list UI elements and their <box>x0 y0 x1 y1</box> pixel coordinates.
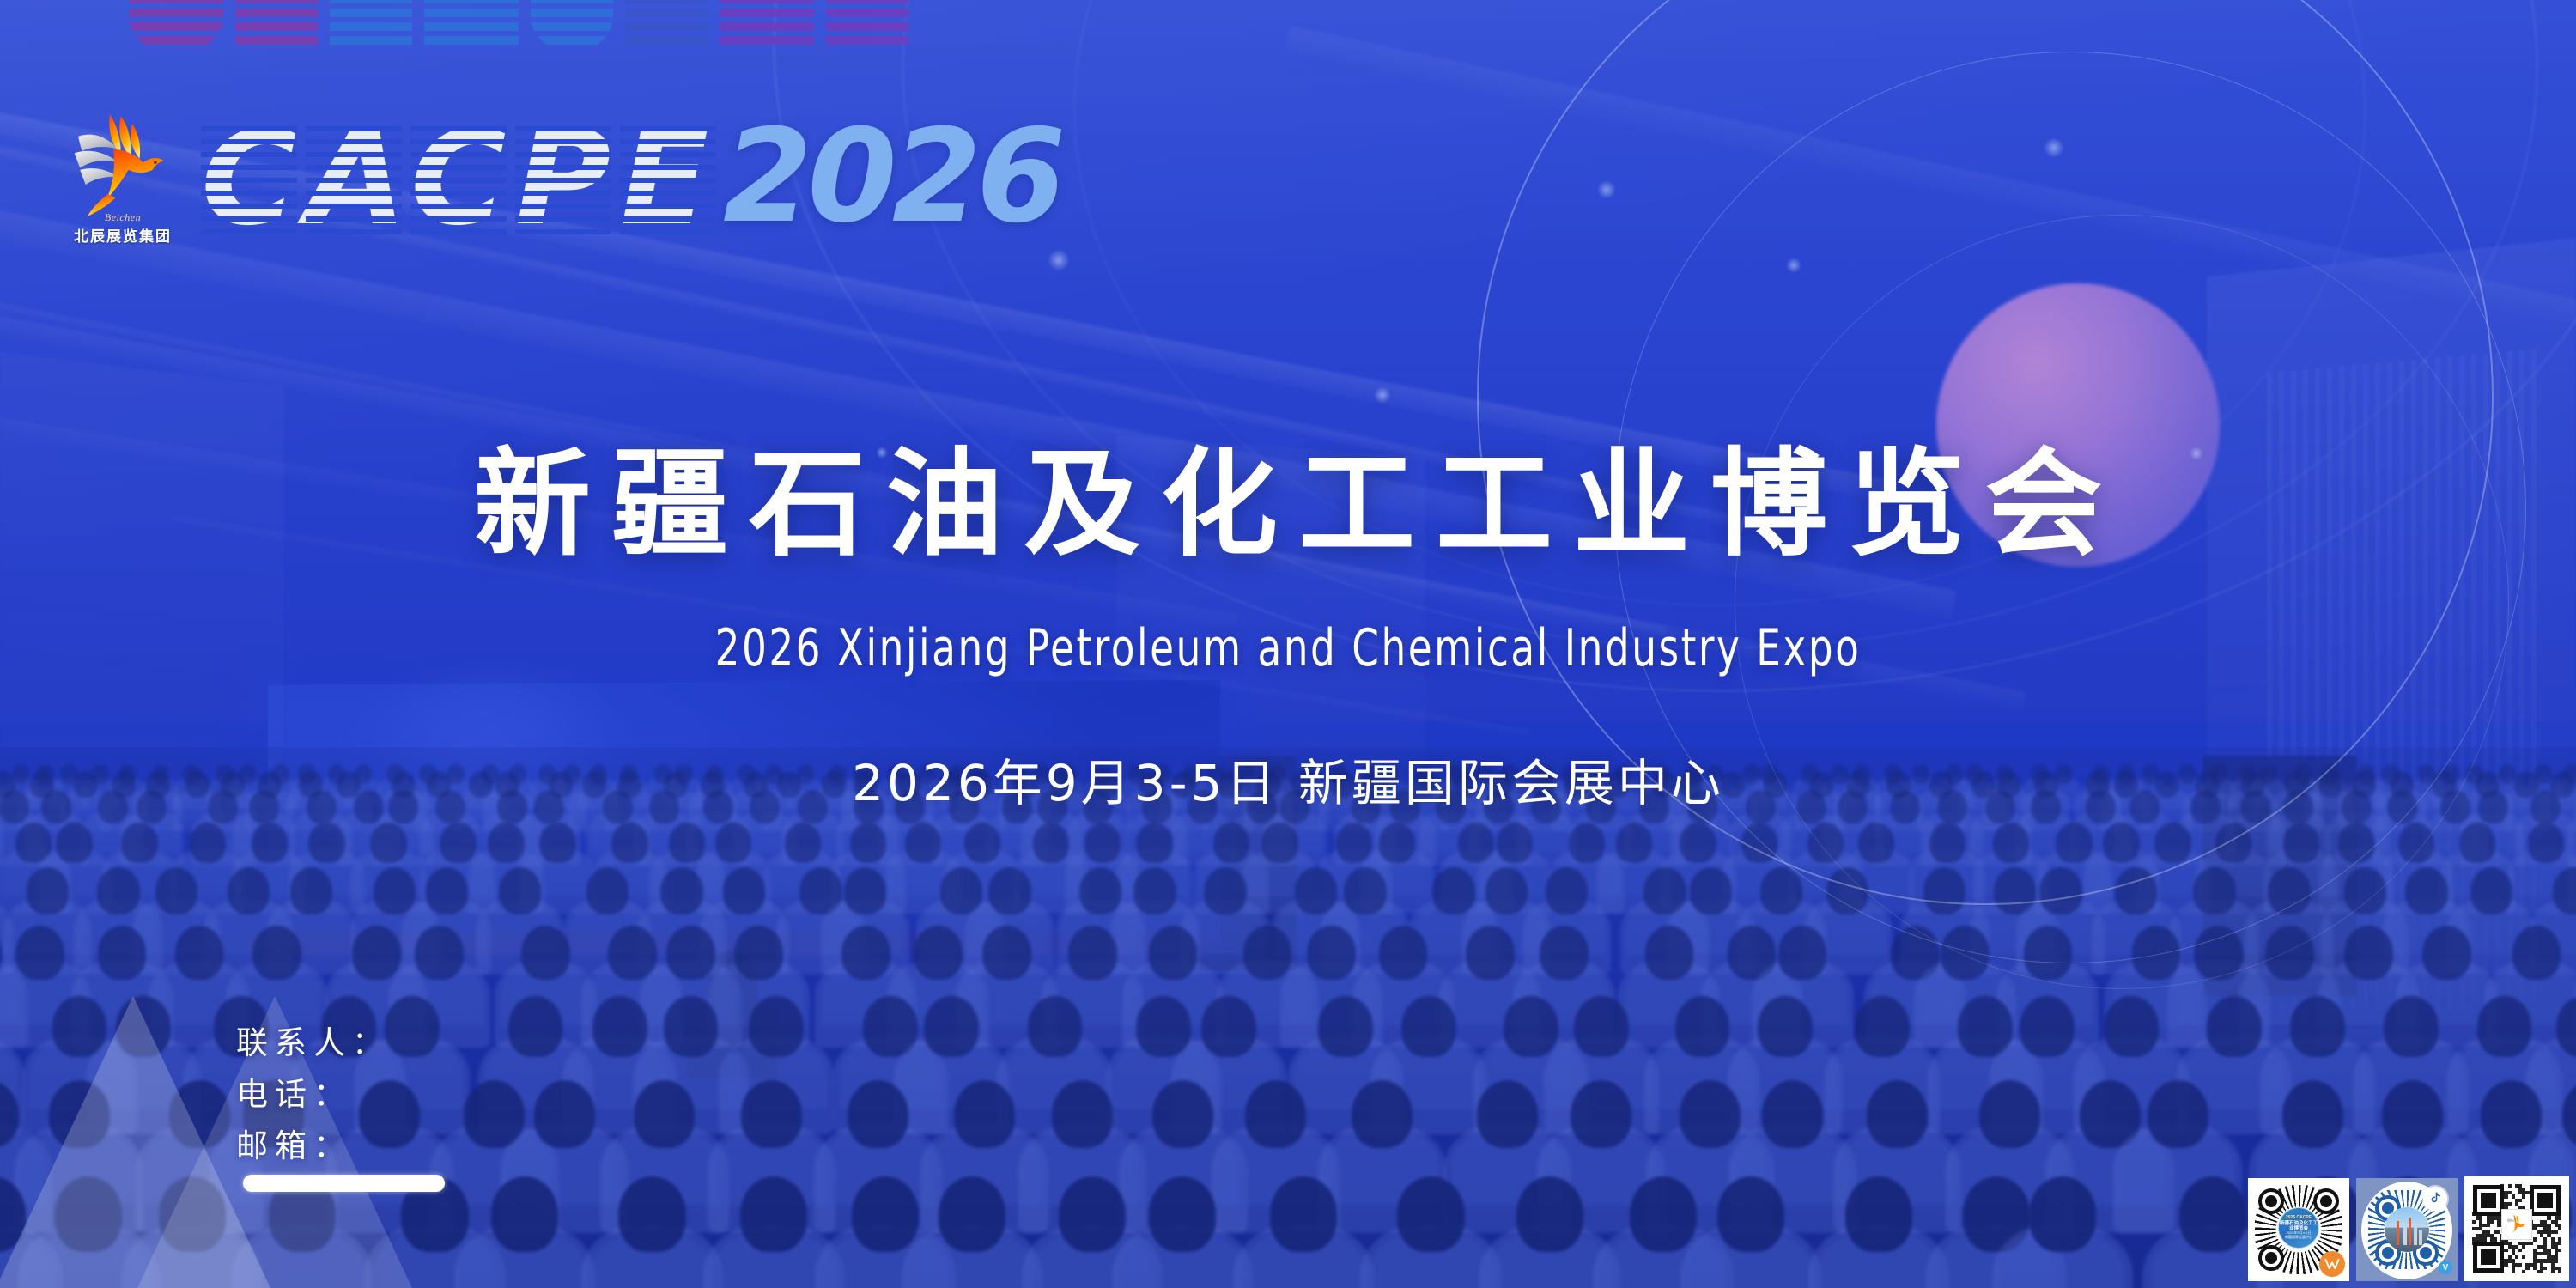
refinery-photo <box>2385 1207 2429 1252</box>
qr-module <box>2555 1230 2558 1234</box>
qr-module <box>2558 1270 2561 1273</box>
cacpe-letter-e-4: E <box>620 118 716 239</box>
website-qr[interactable] <box>2464 1176 2569 1281</box>
qr-module <box>2504 1249 2507 1252</box>
douyin-qr[interactable]: V <box>2356 1178 2458 1281</box>
phoenix-logo-icon <box>2501 1209 2532 1240</box>
qr-finder-icon <box>2258 1188 2284 1214</box>
cacpe-letter-c-0: C <box>201 118 297 239</box>
cacpe-letter-glyph: P <box>515 118 611 239</box>
top-watermark-cacpe <box>129 0 908 50</box>
watermark-letter <box>330 0 412 50</box>
qr-finder-icon <box>2313 1188 2339 1214</box>
english-title: 2026 Xinjiang Petroleum and Chemical Ind… <box>206 618 2370 678</box>
cacpe-letters: CACPE <box>201 118 716 239</box>
qr-module <box>2558 1242 2561 1245</box>
qr-module <box>2522 1270 2525 1273</box>
wechat-channels-qr[interactable]: 2025 CACPE 新疆石油及化工工业博览会 2025年9月4-6日 新疆国际… <box>2248 1178 2349 1281</box>
bokeh-dot <box>1786 258 1801 273</box>
qr-code-row: 2025 CACPE 新疆石油及化工工业博览会 2025年9月4-6日 新疆国际… <box>2241 1176 2569 1281</box>
qr-module <box>2551 1270 2555 1273</box>
contact-block: 联系人： 电话： 邮箱： <box>236 1018 391 1172</box>
watermark-letter <box>235 0 318 50</box>
qr-module <box>2515 1255 2518 1259</box>
redacted-contact-value <box>243 1175 445 1192</box>
qr-module <box>2522 1194 2525 1198</box>
cacpe-letter-glyph: C <box>201 118 297 239</box>
v-badge: V <box>2439 1261 2452 1274</box>
cacpe-letter-c-2: C <box>410 118 507 239</box>
watermark-letter <box>720 0 814 50</box>
qr-module <box>2530 1242 2533 1245</box>
contact-phone-label: 电话： <box>236 1069 391 1121</box>
qr-center-thumbnail: 2025 CACPE 新疆石油及化工工业博览会 2025年9月4-6日 新疆国际… <box>2278 1207 2319 1249</box>
watermark-letter <box>625 0 708 50</box>
qr-module <box>2558 1249 2561 1252</box>
qr-module <box>2512 1270 2515 1273</box>
cacpe-wordmark: CACPE 2026 <box>201 118 1060 239</box>
event-poster: Beichen 北辰展览集团 CACPE 2026 新疆石油及化工工业博览会 2… <box>0 0 2576 1288</box>
qr-module <box>2504 1263 2507 1267</box>
chinese-title: 新疆石油及化工工业博览会 <box>0 447 2576 563</box>
qr-thumb-line2: 新疆石油及化工工业博览会 <box>2279 1221 2318 1232</box>
cacpe-letter-glyph: A <box>306 118 402 239</box>
watermark-letter <box>129 0 223 50</box>
qr-module <box>2518 1263 2522 1267</box>
qr-thumb-line4: 新疆国际会展中心 <box>2285 1236 2312 1240</box>
qr-module <box>2558 1227 2561 1230</box>
bokeh-dot <box>1597 180 1616 199</box>
qr-module <box>2490 1220 2494 1224</box>
qr-module <box>2558 1216 2561 1219</box>
qr-finder-icon <box>2473 1185 2504 1216</box>
wechat-channels-icon <box>2319 1251 2345 1277</box>
watermark-letter <box>424 0 519 50</box>
qr-module <box>2508 1184 2512 1188</box>
cacpe-year: 2026 <box>723 118 1060 235</box>
qr-module <box>2472 1220 2476 1224</box>
qr-module <box>2522 1245 2525 1249</box>
qr-module <box>2508 1202 2512 1206</box>
qr-finder-icon <box>2258 1245 2284 1271</box>
qr-module <box>2533 1237 2537 1241</box>
phoenix-logo-en: Beichen <box>67 211 179 224</box>
qr-module <box>2540 1270 2543 1273</box>
qr-module <box>2482 1237 2486 1241</box>
date-venue-line: 2026年9月3-5日 新疆国际会展中心 <box>0 743 2576 815</box>
qr-module <box>2487 1224 2490 1227</box>
qr-module <box>2555 1259 2558 1262</box>
qr-module <box>2543 1267 2547 1270</box>
qr-module <box>2525 1267 2529 1270</box>
brand-bar: Beichen 北辰展览集团 CACPE 2026 <box>67 110 1060 247</box>
bokeh-dot <box>1374 386 1391 404</box>
qr-module <box>2518 1199 2522 1202</box>
cacpe-letter-glyph: E <box>620 118 716 239</box>
bokeh-dot <box>1048 249 1070 271</box>
contact-email-label: 邮箱： <box>236 1121 391 1172</box>
qr-finder-icon <box>2530 1185 2561 1216</box>
bokeh-dot <box>2044 137 2064 158</box>
tiktok-icon <box>2423 1187 2447 1211</box>
phoenix-logo: Beichen 北辰展览集团 <box>67 110 179 247</box>
watermark-letter <box>531 0 613 50</box>
phoenix-logo-cn: 北辰展览集团 <box>67 224 179 246</box>
cacpe-letter-p-3: P <box>515 118 611 239</box>
qr-module <box>2494 1237 2497 1241</box>
cacpe-letter-a-1: A <box>306 118 402 239</box>
contact-person-label: 联系人： <box>236 1018 391 1069</box>
qr-finder-icon <box>2473 1242 2504 1273</box>
qr-module <box>2518 1249 2522 1252</box>
watermark-letter <box>826 0 908 50</box>
cacpe-letter-glyph: C <box>410 118 507 239</box>
qr-module <box>2522 1255 2525 1259</box>
qr-module <box>2504 1194 2507 1198</box>
